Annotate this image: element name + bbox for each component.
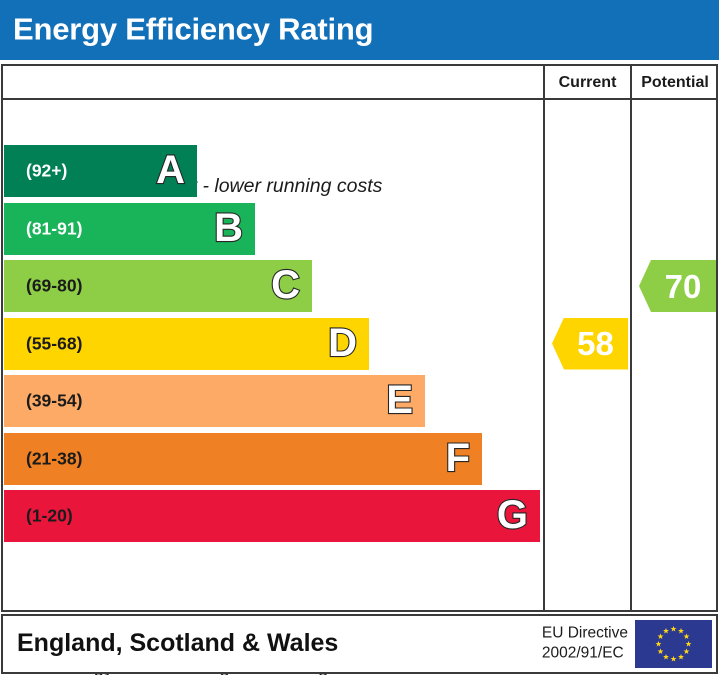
band-range-label: (92+): [26, 161, 67, 182]
rating-band-g: (1-20)G: [4, 490, 540, 542]
band-letter-e: E: [386, 380, 413, 420]
band-letter-d: D: [328, 323, 357, 363]
footer-directive-line1: EU Directive: [542, 624, 628, 644]
band-range-label: (55-68): [26, 333, 82, 354]
rating-bands: (92+)A(81-91)B(69-80)C(55-68)D(39-54)E(2…: [4, 66, 542, 610]
rating-band-f: (21-38)F: [4, 433, 482, 485]
column-divider-potential: [630, 66, 632, 610]
band-letter-c: C: [271, 265, 300, 305]
band-letter-f: F: [446, 438, 470, 478]
eu-flag-stars: [635, 620, 712, 668]
rating-value-current: 58: [566, 327, 614, 360]
band-range-label: (69-80): [26, 276, 82, 297]
title-bar: Energy Efficiency Rating: [0, 0, 719, 60]
rating-band-b: (81-91)B: [4, 203, 255, 255]
rating-band-c: (69-80)C: [4, 260, 312, 312]
column-header-potential: Potential: [632, 66, 718, 100]
page-title: Energy Efficiency Rating: [13, 11, 373, 47]
rating-value-potential: 70: [654, 270, 702, 303]
rating-marker-potential: 70: [639, 260, 716, 312]
column-header-current: Current: [545, 66, 630, 100]
rating-band-d: (55-68)D: [4, 318, 369, 370]
footer-directive-line2: 2002/91/EC: [542, 644, 628, 664]
band-range-label: (1-20): [26, 506, 73, 527]
rating-band-a: (92+)A: [4, 145, 197, 197]
column-divider-current: [543, 66, 545, 610]
band-range-label: (21-38): [26, 448, 82, 469]
footer-bar: England, Scotland & Wales EU Directive 2…: [1, 614, 718, 674]
band-range-label: (81-91): [26, 218, 82, 239]
eu-flag-icon: [635, 620, 712, 668]
footer-region-label: England, Scotland & Wales: [17, 629, 338, 658]
rating-marker-current: 58: [552, 318, 628, 370]
energy-efficiency-rating-certificate: Energy Efficiency Rating Current Potenti…: [0, 0, 719, 675]
band-letter-g: G: [497, 495, 528, 535]
rating-chart-frame: Current Potential Very energy efficient …: [1, 64, 718, 612]
rating-band-e: (39-54)E: [4, 375, 425, 427]
band-range-label: (39-54): [26, 391, 82, 412]
band-letter-a: A: [156, 150, 185, 190]
footer-directive: EU Directive 2002/91/EC: [542, 624, 628, 665]
band-letter-b: B: [214, 208, 243, 248]
